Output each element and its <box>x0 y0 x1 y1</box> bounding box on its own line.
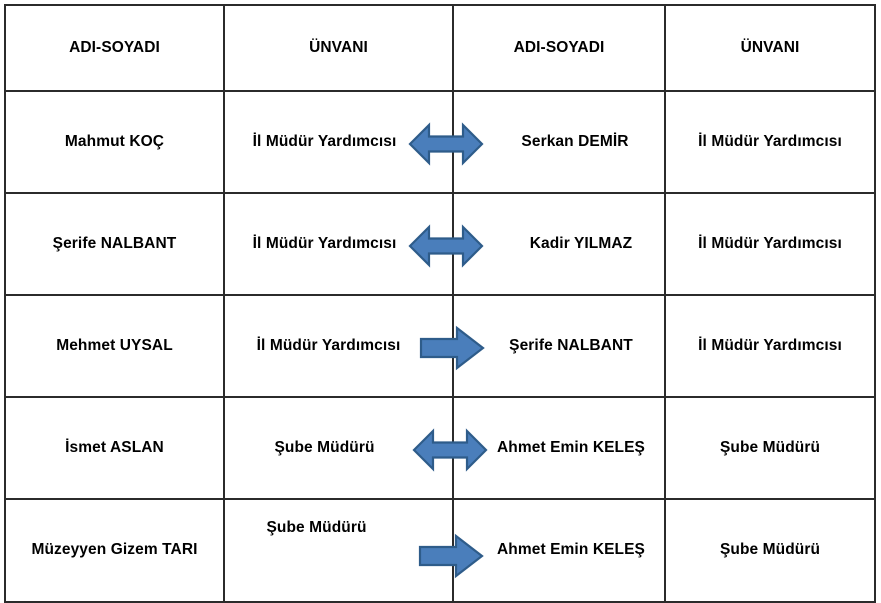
double-headed-horizontal-arrow-icon <box>408 120 484 168</box>
cell-source-name: Mahmut KOÇ <box>5 91 224 193</box>
cell-source-name: Müzeyyen Gizem TARI <box>5 499 224 602</box>
header-cell-source-name: ADI-SOYADI <box>5 5 224 91</box>
target-name-label: Kadir YILMAZ <box>476 235 686 254</box>
source-name-label: Müzeyyen Gizem TARI <box>6 541 223 560</box>
table-container: ADI-SOYADI ÜNVANI ADI-SOYADI ÜNVANI <box>4 4 874 589</box>
target-name-label: Ahmet Emin KELEŞ <box>466 439 676 458</box>
cell-source-name: Şerife NALBANT <box>5 193 224 295</box>
right-arrow-icon <box>419 324 485 372</box>
source-title-label: İl Müdür Yardımcısı <box>211 133 438 152</box>
cell-target-name: Serkan DEMİR <box>453 91 665 193</box>
table-header-row: ADI-SOYADI ÜNVANI ADI-SOYADI ÜNVANI <box>5 5 875 91</box>
double-headed-horizontal-arrow-icon <box>408 222 484 270</box>
source-name-label: Şerife NALBANT <box>6 235 223 254</box>
table-row: İsmet ASLAN Şube Müdürü Ahmet Emin KELEŞ <box>5 397 875 499</box>
target-name-label: Serkan DEMİR <box>470 133 680 152</box>
header-label-target-title: ÜNVANI <box>666 39 874 58</box>
cell-source-title: Şube Müdürü <box>224 499 453 602</box>
cell-source-name: Mehmet UYSAL <box>5 295 224 397</box>
cell-target-title: Şube Müdürü <box>665 499 875 602</box>
table-row: Mahmut KOÇ İl Müdür Yardımcısı Serkan DE… <box>5 91 875 193</box>
double-headed-horizontal-arrow-icon <box>412 426 488 474</box>
target-title-label: İl Müdür Yardımcısı <box>666 337 874 356</box>
cell-source-title: İl Müdür Yardımcısı <box>224 295 453 397</box>
source-name-label: Mehmet UYSAL <box>6 337 223 356</box>
target-name-label: Ahmet Emin KELEŞ <box>466 541 676 560</box>
header-cell-target-title: ÜNVANI <box>665 5 875 91</box>
cell-target-title: İl Müdür Yardımcısı <box>665 91 875 193</box>
table-row: Şerife NALBANT İl Müdür Yardımcısı Kadir… <box>5 193 875 295</box>
source-title-label: İl Müdür Yardımcısı <box>211 235 438 254</box>
cell-target-name: Ahmet Emin KELEŞ <box>453 499 665 602</box>
cell-source-title: Şube Müdürü <box>224 397 453 499</box>
cell-source-name: İsmet ASLAN <box>5 397 224 499</box>
target-title-label: İl Müdür Yardımcısı <box>666 133 874 152</box>
header-label-source-name: ADI-SOYADI <box>6 39 223 58</box>
cell-source-title: İl Müdür Yardımcısı <box>224 91 453 193</box>
page-root: ADI-SOYADI ÜNVANI ADI-SOYADI ÜNVANI <box>0 0 881 595</box>
source-title-label: İl Müdür Yardımcısı <box>215 337 442 356</box>
cell-source-title: İl Müdür Yardımcısı <box>224 193 453 295</box>
cell-target-name: Kadir YILMAZ <box>453 193 665 295</box>
source-title-label: Şube Müdürü <box>203 519 430 538</box>
source-name-label: İsmet ASLAN <box>6 439 223 458</box>
header-cell-source-title: ÜNVANI <box>224 5 453 91</box>
header-label-target-name: ADI-SOYADI <box>454 39 664 58</box>
target-title-label: İl Müdür Yardımcısı <box>666 235 874 254</box>
header-cell-target-name: ADI-SOYADI <box>453 5 665 91</box>
right-arrow-icon <box>418 532 484 580</box>
source-title-label: Şube Müdürü <box>211 439 438 458</box>
source-name-label: Mahmut KOÇ <box>6 133 223 152</box>
cell-target-title: Şube Müdürü <box>665 397 875 499</box>
rotation-table: ADI-SOYADI ÜNVANI ADI-SOYADI ÜNVANI <box>4 4 876 603</box>
cell-target-title: İl Müdür Yardımcısı <box>665 193 875 295</box>
table-row: Müzeyyen Gizem TARI Şube Müdürü Ahmet Em… <box>5 499 875 602</box>
target-title-label: Şube Müdürü <box>666 541 874 560</box>
target-name-label: Şerife NALBANT <box>466 337 676 356</box>
target-title-label: Şube Müdürü <box>666 439 874 458</box>
table-row: Mehmet UYSAL İl Müdür Yardımcısı Şerife … <box>5 295 875 397</box>
cell-target-title: İl Müdür Yardımcısı <box>665 295 875 397</box>
header-label-source-title: ÜNVANI <box>225 39 452 58</box>
